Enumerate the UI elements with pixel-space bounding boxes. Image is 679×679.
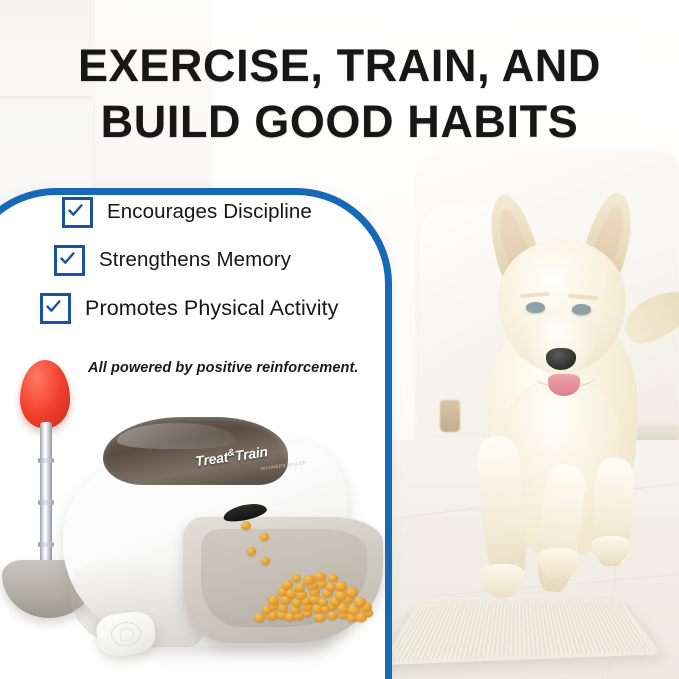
pole-joint [38, 500, 54, 505]
kibble-piece [318, 598, 328, 606]
dog-tail [617, 281, 679, 351]
dog-eye-left [526, 302, 545, 313]
checklist-item-encourages-discipline[interactable]: Encourages Discipline [62, 188, 432, 236]
kibble-piece [328, 574, 338, 582]
kibble-piece [303, 575, 315, 585]
kibble-piece [292, 574, 302, 582]
falling-kibble [241, 521, 251, 530]
brand-logo-text: Treat [194, 449, 229, 469]
pole-joint [38, 542, 54, 547]
checklist-item-label: Strengthens Memory [99, 248, 291, 272]
checklist-item-promotes-physical-activity[interactable]: Promotes Physical Activity [40, 284, 432, 332]
falling-kibble [247, 547, 256, 556]
kibble-piece [327, 611, 338, 620]
kibble-piece [348, 605, 360, 615]
product-marketing-image: EXERCISE, TRAIN, AND BUILD GOOD HABITS E… [0, 0, 679, 679]
checkbox-checked-icon[interactable] [40, 293, 71, 324]
feature-checklist: Encourages Discipline Strengthens Memory… [40, 188, 432, 332]
checkbox-checked-icon[interactable] [62, 197, 93, 228]
kibble-piece [346, 587, 358, 597]
kibble-piece [268, 595, 280, 605]
kibble-pile [251, 565, 369, 621]
kibble-piece [354, 597, 366, 607]
kibble-piece [314, 572, 326, 582]
brand-logo-text-2: Train [234, 443, 269, 463]
telescoping-pole [40, 422, 52, 570]
dog-eye-right [572, 304, 591, 315]
pole-joint [38, 458, 54, 463]
falling-kibble [260, 533, 269, 541]
dog-paw [592, 536, 630, 564]
treat-dispenser: Treat&Train MANNERS MINDER [55, 405, 385, 667]
falling-kibble [261, 557, 270, 565]
checklist-item-label: Encourages Discipline [107, 200, 312, 224]
checklist-item-strengthens-memory[interactable]: Strengthens Memory [54, 236, 432, 284]
headline-line-1: EXERCISE, TRAIN, AND [0, 38, 679, 94]
remote-button[interactable] [110, 620, 143, 647]
golden-dog-running [436, 196, 679, 616]
tagline: All powered by positive reinforcement. [88, 360, 359, 376]
headline-line-2: BUILD GOOD HABITS [0, 94, 679, 150]
kibble-piece [278, 604, 287, 612]
checkbox-checked-icon[interactable] [54, 245, 85, 276]
dog-paw [480, 564, 524, 598]
kibble-piece [314, 613, 326, 622]
wireless-remote-control[interactable] [95, 610, 158, 659]
kibble-piece [254, 613, 265, 622]
kibble-piece [335, 581, 347, 591]
checklist-item-label: Promotes Physical Activity [85, 296, 339, 321]
kibble-piece [282, 580, 293, 589]
page-headline: EXERCISE, TRAIN, AND BUILD GOOD HABITS [0, 38, 679, 150]
